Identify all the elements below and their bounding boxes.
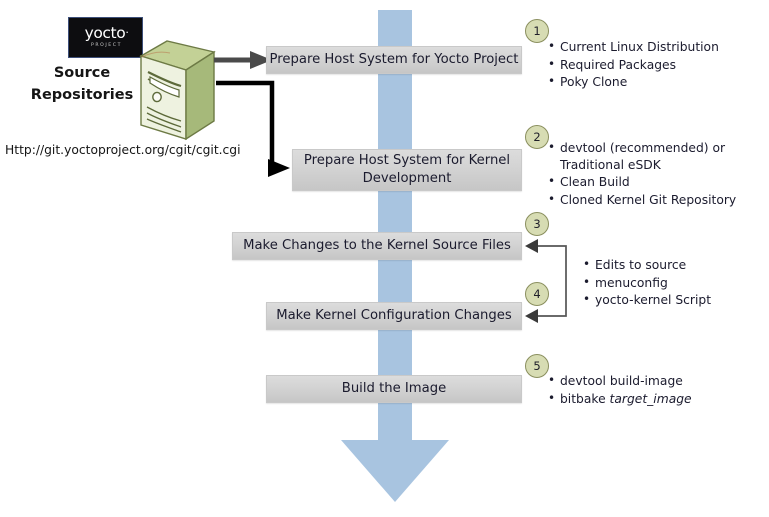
list-item: Poky Clone	[548, 74, 719, 91]
process-box-step-5-label: Build the Image	[342, 380, 446, 398]
process-box-step-4-label: Make Kernel Configuration Changes	[276, 307, 512, 325]
process-box-step-1[interactable]: Prepare Host System for Yocto Project	[266, 46, 522, 74]
source-repositories-label: Source Repositories	[18, 62, 146, 106]
list-item: Clean Build	[548, 174, 728, 191]
yocto-logo-subtext: PROJECT	[69, 43, 144, 48]
connector-server-to-step2	[214, 78, 292, 180]
step-5-bullet-list: devtool build-image bitbake target_image	[548, 373, 692, 408]
step-number-4: 4	[525, 282, 549, 306]
process-box-step-5[interactable]: Build the Image	[266, 375, 522, 403]
diagram-canvas: yocto· PROJECT Source Repositories Http:…	[0, 0, 769, 517]
process-box-step-1-label: Prepare Host System for Yocto Project	[270, 51, 519, 69]
list-item: devtool build-image	[548, 373, 692, 390]
connector-step3-step4-loop	[524, 238, 572, 324]
step-number-2: 2	[525, 125, 549, 149]
list-item: Required Packages	[548, 57, 719, 74]
yocto-logo-wordmark: yocto·	[69, 24, 144, 42]
step-number-5-text: 5	[533, 359, 540, 373]
source-repository-url: Http://git.yoctoproject.org/cgit/cgit.cg…	[5, 143, 241, 157]
step-number-4-text: 4	[533, 287, 540, 301]
step-number-1-text: 1	[533, 24, 540, 38]
process-box-step-2-label: Prepare Host System for Kernel Developme…	[293, 152, 521, 188]
connector-server-to-step1	[214, 48, 274, 72]
list-item: Cloned Kernel Git Repository	[548, 192, 728, 209]
step-5-bitbake-prefix: bitbake	[560, 392, 610, 406]
step-number-3: 3	[525, 212, 549, 236]
process-box-step-2[interactable]: Prepare Host System for Kernel Developme…	[292, 149, 522, 191]
source-repositories-line1: Source	[18, 62, 146, 84]
list-item: Current Linux Distribution	[548, 39, 719, 56]
server-tower-icon	[136, 39, 218, 142]
step-1-bullet-list: Current Linux Distribution Required Pack…	[548, 39, 719, 92]
list-item: yocto-kernel Script	[583, 292, 711, 309]
list-item: devtool (recommended) or Traditional eSD…	[548, 140, 728, 173]
step-3-4-shared-bullet-list: Edits to source menuconfig yocto-kernel …	[583, 257, 711, 310]
list-item: menuconfig	[583, 275, 711, 292]
yocto-logo-dot: ·	[125, 26, 128, 39]
list-item: Edits to source	[583, 257, 711, 274]
source-repositories-line2: Repositories	[18, 84, 146, 106]
step-5-bitbake-target: target_image	[610, 392, 692, 406]
step-2-bullet-list: devtool (recommended) or Traditional eSD…	[548, 140, 728, 209]
yocto-project-logo: yocto· PROJECT	[68, 17, 143, 58]
process-box-step-3-label: Make Changes to the Kernel Source Files	[243, 237, 511, 255]
main-flow-arrow-head	[341, 440, 449, 502]
step-number-3-text: 3	[533, 217, 540, 231]
step-number-2-text: 2	[533, 130, 540, 144]
process-box-step-3[interactable]: Make Changes to the Kernel Source Files	[232, 232, 522, 260]
process-box-step-4[interactable]: Make Kernel Configuration Changes	[266, 302, 522, 330]
list-item: bitbake target_image	[548, 391, 692, 408]
step-number-1: 1	[525, 19, 549, 43]
yocto-logo-text: yocto	[85, 24, 126, 42]
step-number-5: 5	[525, 354, 549, 378]
